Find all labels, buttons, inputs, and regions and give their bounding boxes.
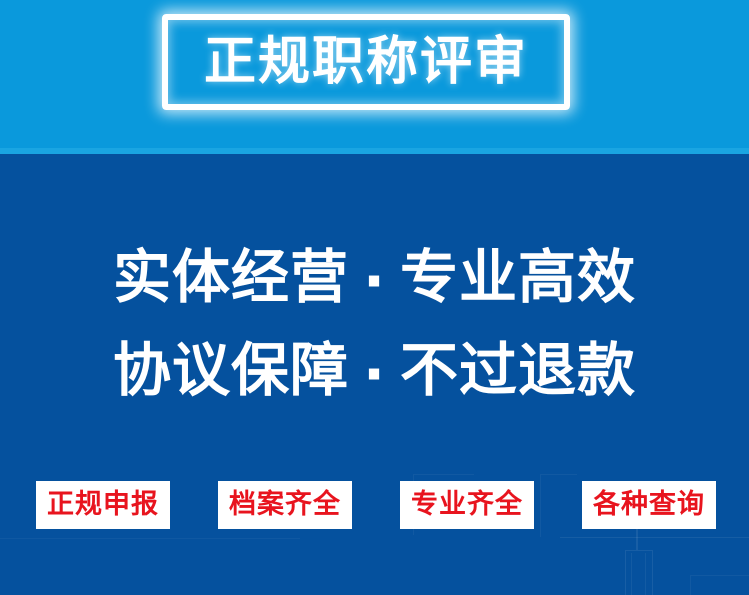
feature-badge-row: 正规申报 档案齐全 专业齐全 各种查询 xyxy=(36,481,716,529)
slogan-line-2-separator: · xyxy=(349,345,400,403)
feature-badge-3[interactable]: 专业齐全 xyxy=(400,481,534,529)
headline-title: 正规职称评审 xyxy=(204,36,528,88)
feature-badge-4[interactable]: 各种查询 xyxy=(582,481,716,529)
slogan-line-2: 协议保障·不过退款 xyxy=(0,341,749,403)
slogan-line-1-left: 实体经营 xyxy=(113,243,349,311)
slogan-line-1: 实体经营·专业高效 xyxy=(0,248,749,310)
slogan-line-1-right: 专业高效 xyxy=(400,243,636,311)
feature-badge-1[interactable]: 正规申报 xyxy=(36,481,170,529)
promotional-poster: 正规职称评审 实体经营·专业高效 协议保障·不过退款 正规申报 档案齐全 专业齐… xyxy=(0,0,749,595)
slogan-line-1-separator: · xyxy=(349,252,400,310)
slogan-line-2-right: 不过退款 xyxy=(400,336,636,404)
feature-badge-2[interactable]: 档案齐全 xyxy=(218,481,352,529)
slogan-line-2-left: 协议保障 xyxy=(113,336,349,404)
headline-frame: 正规职称评审 xyxy=(162,14,570,110)
